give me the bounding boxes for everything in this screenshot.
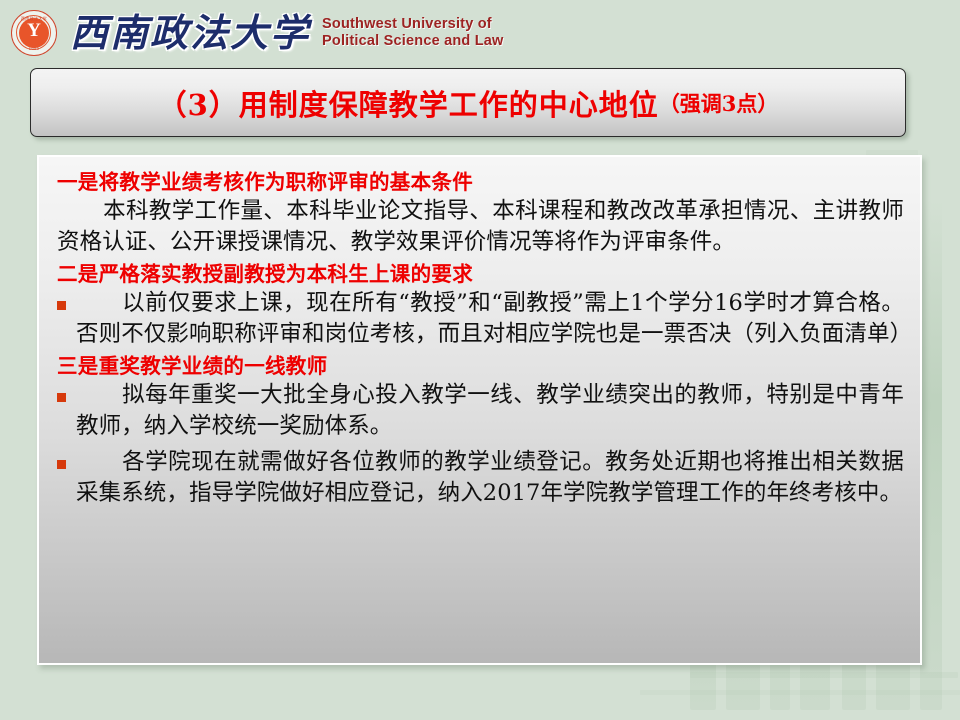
square-bullet-icon (57, 393, 66, 402)
section-3-bullet-2: 各学院现在就需做好各位教师的教学业绩登记。教务处近期也将推出相关数据采集系统，指… (76, 447, 904, 509)
university-name-chinese: 西南政法大学 (70, 11, 310, 55)
university-name-english-line1: Southwest University of (322, 16, 503, 33)
section-heading-2: 二是严格落实教授副教授为本科生上课的要求 (57, 261, 904, 288)
list-item: 以前仅要求上课，现在所有“教授”和“副教授”需上1个学分16学时才算合格。否则不… (57, 288, 904, 350)
square-bullet-icon (57, 301, 66, 310)
slide-content-panel: 一是将教学业绩考核作为职称评审的基本条件 本科教学工作量、本科毕业论文指导、本科… (37, 155, 922, 665)
brand-header: 西南政法大学 Y 1953 西南政法大学 Southwest Universit… (0, 0, 960, 66)
seal-glyph: Y (12, 16, 56, 46)
section-3-bullet-1: 拟每年重奖一大批全身心投入教学一线、教学业绩突出的教师，特别是中青年教师，纳入学… (76, 380, 904, 442)
university-seal-icon: 西南政法大学 Y 1953 (11, 10, 57, 56)
section-heading-3: 三是重奖教学业绩的一线教师 (57, 353, 904, 380)
section-body-1: 本科教学工作量、本科毕业论文指导、本科课程和教改改革承担情况、主讲教师资格认证、… (57, 196, 904, 258)
seal-arc-bottom-text: 1953 (12, 46, 56, 51)
slide-title-box: （3）用制度保障教学工作的中心地位 （强调3点） (30, 68, 906, 137)
list-item: 各学院现在就需做好各位教师的教学业绩登记。教务处近期也将推出相关数据采集系统，指… (57, 447, 904, 509)
square-bullet-icon (57, 460, 66, 469)
section-2-bullet-1: 以前仅要求上课，现在所有“教授”和“副教授”需上1个学分16学时才算合格。否则不… (76, 288, 904, 350)
slide-title: （3）用制度保障教学工作的中心地位 (158, 82, 659, 124)
list-item: 拟每年重奖一大批全身心投入教学一线、教学业绩突出的教师，特别是中青年教师，纳入学… (57, 380, 904, 442)
slide-title-note: （强调3点） (659, 88, 779, 118)
university-name-english: Southwest University of Political Scienc… (310, 16, 503, 50)
section-heading-1: 一是将教学业绩考核作为职称评审的基本条件 (57, 169, 904, 196)
university-name-english-line2: Political Science and Law (322, 33, 503, 50)
